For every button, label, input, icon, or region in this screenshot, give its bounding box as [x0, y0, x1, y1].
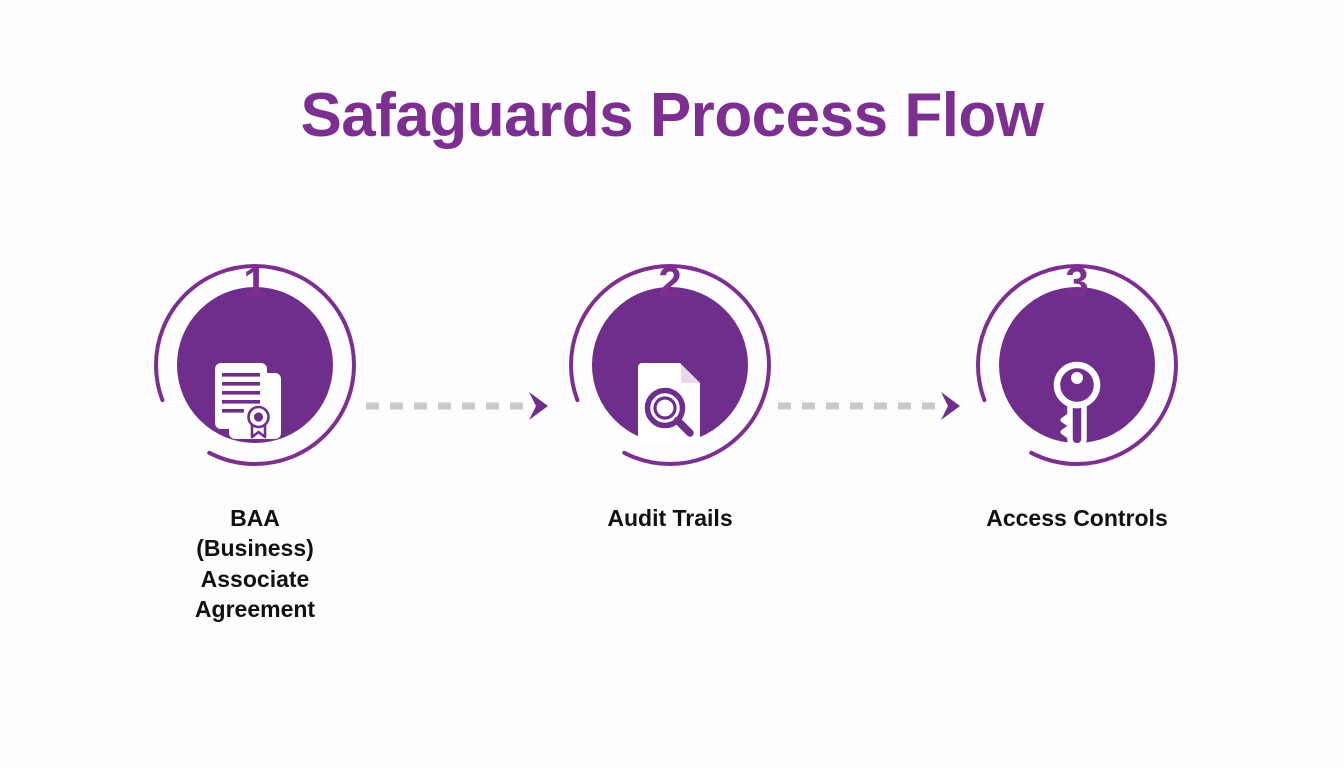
- key-icon: [1027, 353, 1127, 453]
- process-flow: 1: [0, 255, 1344, 675]
- step-1-badge: 1: [105, 255, 405, 475]
- step-3-number: 3: [927, 261, 1227, 303]
- document-search-icon: [620, 353, 720, 453]
- process-step-3[interactable]: 3 Access Controls: [927, 255, 1227, 475]
- slide-canvas: Safaguards Process Flow 1: [0, 0, 1344, 768]
- step-1-label: BAA (Business) Associate Agreement: [175, 503, 335, 624]
- process-step-1[interactable]: 1: [105, 255, 405, 475]
- step-3-badge: 3: [927, 255, 1227, 475]
- step-2-badge: 2: [520, 255, 820, 475]
- process-step-2[interactable]: 2 Audit Trails: [520, 255, 820, 475]
- step-1-number: 1: [105, 261, 405, 303]
- step-3-label: Access Controls: [947, 503, 1207, 533]
- step-2-label: Audit Trails: [540, 503, 800, 533]
- step-2-number: 2: [520, 261, 820, 303]
- certificate-document-icon: [205, 353, 305, 453]
- page-title: Safaguards Process Flow: [0, 80, 1344, 151]
